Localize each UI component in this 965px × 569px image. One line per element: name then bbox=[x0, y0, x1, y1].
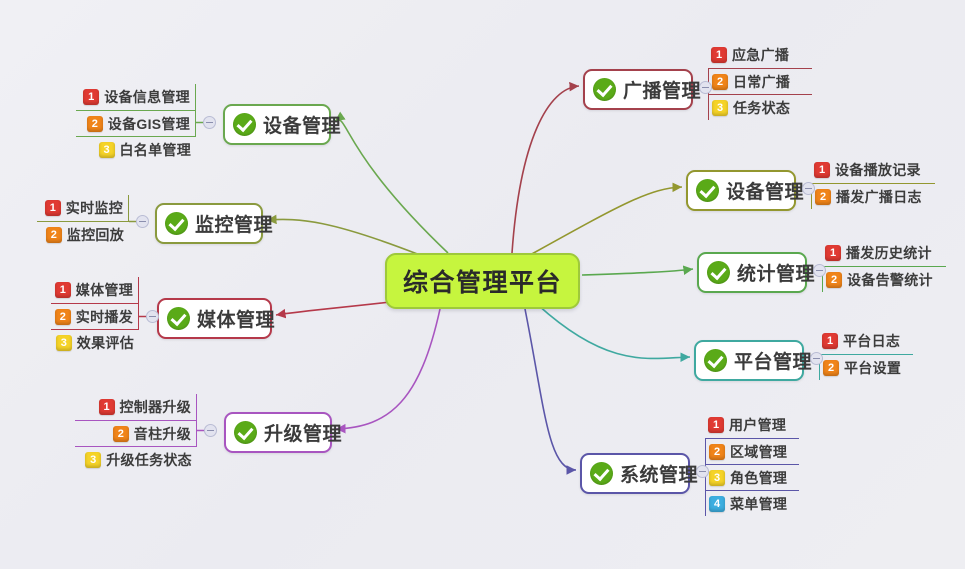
subitem-label: 日常广播 bbox=[733, 72, 790, 92]
subitem-label: 白名单管理 bbox=[120, 140, 192, 160]
branch-node-label: 广播管理 bbox=[623, 76, 701, 103]
center-node[interactable]: 综合管理平台 bbox=[385, 253, 580, 309]
branch-node-device-mgmt-left[interactable]: 设备管理 bbox=[223, 104, 331, 145]
collapse-toggle-stats-mgmt[interactable] bbox=[813, 264, 826, 277]
branch-node-device-mgmt-right[interactable]: 设备管理 bbox=[686, 170, 796, 211]
subitem-label: 平台设置 bbox=[844, 358, 901, 378]
subitem[interactable]: 3升级任务状态 bbox=[75, 446, 197, 472]
connector-monitor-mgmt bbox=[267, 219, 420, 255]
subitem[interactable]: 1媒体管理 bbox=[51, 277, 139, 303]
subitem-label: 设备GIS管理 bbox=[108, 114, 190, 134]
subitem[interactable]: 1播发历史统计 bbox=[822, 240, 946, 266]
connector-upgrade-mgmt bbox=[336, 309, 440, 429]
subitem-label: 实时监控 bbox=[66, 198, 123, 218]
subitem-group-upgrade-mgmt: 1控制器升级2音柱升级3升级任务状态 bbox=[75, 394, 197, 472]
subitem-label: 播发历史统计 bbox=[846, 243, 932, 263]
branch-node-broadcast-mgmt[interactable]: 广播管理 bbox=[583, 69, 693, 110]
subitem-number-badge: 1 bbox=[99, 399, 115, 415]
subitem[interactable]: 1设备信息管理 bbox=[76, 84, 196, 110]
subitem-number-badge: 2 bbox=[823, 360, 839, 376]
branch-node-platform-mgmt[interactable]: 平台管理 bbox=[694, 340, 804, 381]
collapse-toggle-monitor-mgmt[interactable] bbox=[136, 215, 149, 228]
subitem-label: 控制器升级 bbox=[120, 397, 192, 417]
subitem-label: 用户管理 bbox=[729, 415, 786, 435]
subitem-label: 设备告警统计 bbox=[847, 270, 933, 290]
subitem[interactable]: 2设备告警统计 bbox=[822, 266, 946, 292]
subitem-label: 平台日志 bbox=[843, 331, 900, 351]
branch-node-label: 设备管理 bbox=[726, 177, 804, 204]
collapse-toggle-broadcast-mgmt[interactable] bbox=[699, 81, 712, 94]
subitem-label: 菜单管理 bbox=[730, 494, 787, 514]
check-circle-icon bbox=[233, 113, 256, 136]
branch-node-label: 升级管理 bbox=[264, 419, 342, 446]
subitem[interactable]: 1平台日志 bbox=[819, 328, 913, 354]
subitem-number-badge: 1 bbox=[825, 245, 841, 261]
branch-node-upgrade-mgmt[interactable]: 升级管理 bbox=[224, 412, 332, 453]
branch-node-label: 系统管理 bbox=[620, 460, 698, 487]
subitem-label: 实时播发 bbox=[76, 307, 133, 327]
subitem-number-badge: 3 bbox=[85, 452, 101, 468]
subitem-number-badge: 1 bbox=[711, 47, 727, 63]
subitem[interactable]: 2播发广播日志 bbox=[811, 183, 935, 209]
subitem-label: 音柱升级 bbox=[134, 424, 191, 444]
subitem-number-badge: 3 bbox=[709, 470, 725, 486]
subitem-label: 角色管理 bbox=[730, 468, 787, 488]
subitem-label: 设备信息管理 bbox=[104, 87, 190, 107]
check-circle-icon bbox=[704, 349, 727, 372]
subitem-label: 效果评估 bbox=[77, 333, 134, 353]
subitem[interactable]: 2音柱升级 bbox=[75, 420, 197, 446]
subitem-number-badge: 3 bbox=[56, 335, 72, 351]
check-circle-icon bbox=[696, 179, 719, 202]
check-circle-icon bbox=[165, 212, 188, 235]
branch-node-stats-mgmt[interactable]: 统计管理 bbox=[697, 252, 807, 293]
collapse-toggle-platform-mgmt[interactable] bbox=[810, 352, 823, 365]
subitem[interactable]: 2设备GIS管理 bbox=[76, 110, 196, 136]
subitem-number-badge: 2 bbox=[709, 444, 725, 460]
subitem-number-badge: 2 bbox=[55, 309, 71, 325]
subitem-number-badge: 1 bbox=[55, 282, 71, 298]
subitem-number-badge: 3 bbox=[712, 100, 728, 116]
subitem[interactable]: 2平台设置 bbox=[819, 354, 913, 380]
subitem-number-badge: 2 bbox=[826, 272, 842, 288]
subitem-group-device-mgmt-left: 1设备信息管理2设备GIS管理3白名单管理 bbox=[76, 84, 196, 162]
subitem-number-badge: 1 bbox=[83, 89, 99, 105]
subitem-group-platform-mgmt: 1平台日志2平台设置 bbox=[819, 328, 913, 380]
subitem[interactable]: 1设备播放记录 bbox=[811, 157, 935, 183]
subitem-label: 播发广播日志 bbox=[836, 187, 922, 207]
subitem-number-badge: 1 bbox=[45, 200, 61, 216]
connector-stats-mgmt bbox=[582, 269, 693, 275]
subitem[interactable]: 2日常广播 bbox=[708, 68, 812, 94]
subitem[interactable]: 3任务状态 bbox=[708, 94, 812, 120]
center-node-label: 综合管理平台 bbox=[403, 263, 562, 299]
subitem-number-badge: 2 bbox=[712, 74, 728, 90]
subitem-group-stats-mgmt: 1播发历史统计2设备告警统计 bbox=[822, 240, 946, 292]
subitem[interactable]: 1应急广播 bbox=[708, 42, 812, 68]
subitem-number-badge: 2 bbox=[87, 116, 103, 132]
subitem-number-badge: 1 bbox=[708, 417, 724, 433]
subitem-label: 任务状态 bbox=[733, 98, 790, 118]
subitem-group-media-mgmt: 1媒体管理2实时播发3效果评估 bbox=[51, 277, 139, 355]
subitem-number-badge: 2 bbox=[113, 426, 129, 442]
subitem[interactable]: 3白名单管理 bbox=[76, 136, 196, 162]
subitem[interactable]: 1控制器升级 bbox=[75, 394, 197, 420]
collapse-toggle-system-mgmt[interactable] bbox=[696, 465, 709, 478]
subitem-number-badge: 2 bbox=[46, 227, 62, 243]
branch-node-media-mgmt[interactable]: 媒体管理 bbox=[157, 298, 272, 339]
collapse-toggle-media-mgmt[interactable] bbox=[146, 310, 159, 323]
subitem[interactable]: 1实时监控 bbox=[37, 195, 129, 221]
subitem[interactable]: 2区域管理 bbox=[705, 438, 799, 464]
subitem-number-badge: 3 bbox=[99, 142, 115, 158]
subitem[interactable]: 3角色管理 bbox=[705, 464, 799, 490]
branch-node-monitor-mgmt[interactable]: 监控管理 bbox=[155, 203, 263, 244]
subitem-number-badge: 4 bbox=[709, 496, 725, 512]
subitem-number-badge: 1 bbox=[814, 162, 830, 178]
subitem[interactable]: 3效果评估 bbox=[51, 329, 139, 355]
subitem[interactable]: 1用户管理 bbox=[705, 412, 799, 438]
branch-node-label: 监控管理 bbox=[195, 210, 273, 237]
branch-node-system-mgmt[interactable]: 系统管理 bbox=[580, 453, 690, 494]
check-circle-icon bbox=[234, 421, 257, 444]
connector-broadcast-mgmt bbox=[512, 86, 579, 253]
check-circle-icon bbox=[593, 78, 616, 101]
collapse-toggle-device-mgmt-right[interactable] bbox=[802, 182, 815, 195]
connector-device-mgmt-left bbox=[335, 120, 448, 253]
connector-system-mgmt bbox=[525, 309, 576, 470]
subitem-label: 升级任务状态 bbox=[106, 450, 192, 470]
subitem-label: 设备播放记录 bbox=[835, 160, 921, 180]
branch-node-label: 媒体管理 bbox=[197, 305, 275, 332]
subitem[interactable]: 2监控回放 bbox=[37, 221, 129, 247]
check-circle-icon bbox=[167, 307, 190, 330]
subitem[interactable]: 4菜单管理 bbox=[705, 490, 799, 516]
subitem-label: 区域管理 bbox=[730, 442, 787, 462]
subitem-group-monitor-mgmt: 1实时监控2监控回放 bbox=[37, 195, 129, 247]
collapse-toggle-device-mgmt-left[interactable] bbox=[203, 116, 216, 129]
subitem-group-system-mgmt: 1用户管理2区域管理3角色管理4菜单管理 bbox=[705, 412, 799, 516]
check-circle-icon bbox=[707, 261, 730, 284]
subitem-number-badge: 1 bbox=[822, 333, 838, 349]
connector-device-mgmt-right bbox=[530, 187, 682, 255]
subitem-group-broadcast-mgmt: 1应急广播2日常广播3任务状态 bbox=[708, 42, 812, 120]
check-circle-icon bbox=[590, 462, 613, 485]
subitem-number-badge: 2 bbox=[815, 189, 831, 205]
connector-platform-mgmt bbox=[538, 305, 690, 358]
subitem-group-device-mgmt-right: 1设备播放记录2播发广播日志 bbox=[811, 157, 935, 209]
branch-node-label: 设备管理 bbox=[263, 111, 341, 138]
subitem-label: 监控回放 bbox=[67, 225, 124, 245]
subitem-label: 媒体管理 bbox=[76, 280, 133, 300]
subitem-label: 应急广播 bbox=[732, 45, 789, 65]
branch-node-label: 平台管理 bbox=[734, 347, 812, 374]
subitem[interactable]: 2实时播发 bbox=[51, 303, 139, 329]
collapse-toggle-upgrade-mgmt[interactable] bbox=[204, 424, 217, 437]
branch-node-label: 统计管理 bbox=[737, 259, 815, 286]
